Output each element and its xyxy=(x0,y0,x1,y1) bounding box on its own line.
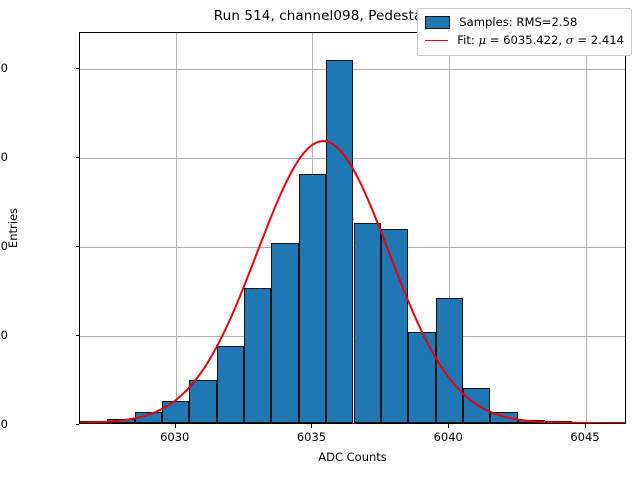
fit-path xyxy=(80,141,625,423)
x-tick-label: 6030 xyxy=(160,430,189,444)
y-tick-mark xyxy=(76,246,80,247)
sigma-symbol: σ xyxy=(566,33,574,47)
bar-swatch-icon xyxy=(425,16,450,29)
legend-fit-mu-value: = 6035.422, xyxy=(486,33,566,47)
x-tick-label: 6045 xyxy=(570,430,599,444)
x-tick-label: 6035 xyxy=(297,430,326,444)
legend-item-fit[interactable]: Fit: μ = 6035.422, σ = 2.414 xyxy=(425,32,624,50)
figure: Run 514, channel098, Pedestal Entries AD… xyxy=(0,0,640,480)
y-axis-label-text: Entries xyxy=(6,208,20,248)
y-tick-label: 2000 xyxy=(0,61,8,75)
x-tick-mark xyxy=(311,424,312,428)
y-tick-label: 1500 xyxy=(0,150,8,164)
plot-area xyxy=(79,32,626,424)
x-tick-label: 6040 xyxy=(434,430,463,444)
legend-item-samples[interactable]: Samples: RMS=2.58 xyxy=(425,14,624,32)
legend-fit-prefix: Fit: xyxy=(457,33,478,47)
mu-symbol: μ xyxy=(478,33,486,47)
y-tick-label: 500 xyxy=(0,328,8,342)
legend-fit-sigma-value: = 2.414 xyxy=(574,33,624,47)
x-tick-mark xyxy=(585,424,586,428)
y-tick-mark xyxy=(76,68,80,69)
y-tick-label: 1000 xyxy=(0,239,8,253)
y-tick-mark xyxy=(76,157,80,158)
y-tick-mark xyxy=(76,424,80,425)
y-tick-label: 0 xyxy=(1,417,8,431)
gaussian-fit-curve xyxy=(80,33,625,423)
y-tick-mark xyxy=(76,335,80,336)
line-swatch-icon xyxy=(425,40,448,41)
y-axis-label: Entries xyxy=(6,32,20,424)
x-tick-mark xyxy=(448,424,449,428)
x-tick-mark xyxy=(175,424,176,428)
plot-clip xyxy=(80,33,625,423)
legend-label-samples: Samples: RMS=2.58 xyxy=(459,14,577,32)
legend-label-fit: Fit: μ = 6035.422, σ = 2.414 xyxy=(457,32,624,50)
x-axis-label: ADC Counts xyxy=(79,450,626,464)
legend[interactable]: Samples: RMS=2.58 Fit: μ = 6035.422, σ =… xyxy=(417,8,632,56)
